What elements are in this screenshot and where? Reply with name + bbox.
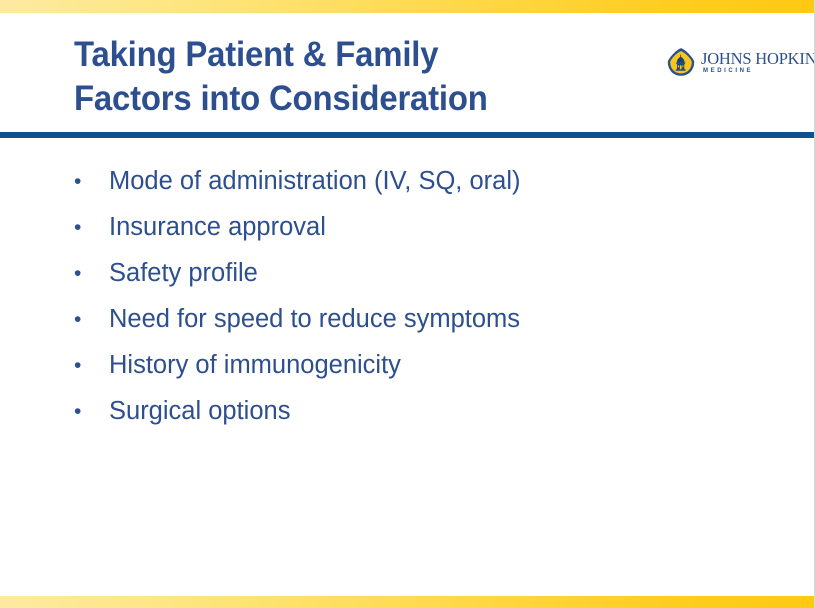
- list-item: • Surgical options: [70, 396, 770, 442]
- list-item-label: Mode of administration (IV, SQ, oral): [109, 166, 521, 197]
- logo-wordmark: JOHNS HOPKINS MEDICINE: [701, 49, 815, 76]
- bullet-dot-icon: •: [70, 212, 109, 243]
- page-title: Taking Patient & Family Factors into Con…: [74, 33, 619, 121]
- list-item-label: Need for speed to reduce symptoms: [109, 304, 520, 335]
- title-area: Taking Patient & Family Factors into Con…: [74, 33, 654, 121]
- slide: Taking Patient & Family Factors into Con…: [0, 0, 815, 608]
- bullet-dot-icon: •: [70, 350, 109, 381]
- list-item: • Insurance approval: [70, 212, 770, 258]
- bullet-dot-icon: •: [70, 166, 109, 197]
- list-item-label: Safety profile: [109, 258, 258, 289]
- top-gold-band: [0, 0, 815, 13]
- list-item-label: Surgical options: [109, 396, 290, 427]
- logo-name: JOHNS HOPKINS: [701, 50, 815, 67]
- johns-hopkins-medicine-logo: JOHNS HOPKINS MEDICINE: [666, 45, 801, 79]
- bullet-list: • Mode of administration (IV, SQ, oral) …: [70, 166, 770, 442]
- list-item: • Need for speed to reduce symptoms: [70, 304, 770, 350]
- list-item-label: History of immunogenicity: [109, 350, 401, 381]
- bullet-dot-icon: •: [70, 396, 109, 427]
- bullet-dot-icon: •: [70, 258, 109, 289]
- list-item: • Mode of administration (IV, SQ, oral): [70, 166, 770, 212]
- bullet-dot-icon: •: [70, 304, 109, 335]
- bottom-gold-band: [0, 596, 815, 608]
- title-divider-rule: [0, 131, 815, 138]
- list-item-label: Insurance approval: [109, 212, 326, 243]
- logo-subtitle: MEDICINE: [701, 67, 815, 76]
- list-item: • Safety profile: [70, 258, 770, 304]
- johns-hopkins-shield-dome-icon: [666, 47, 696, 77]
- list-item: • History of immunogenicity: [70, 350, 770, 396]
